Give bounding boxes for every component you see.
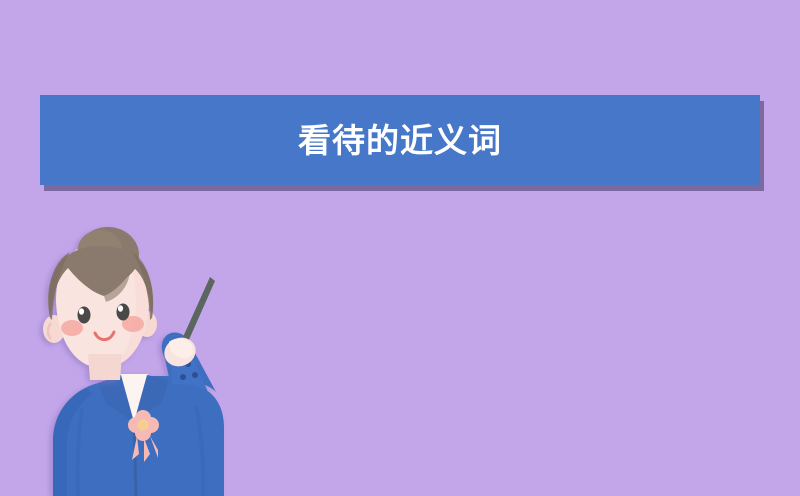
eye-right [117,304,130,321]
eye-left-highlight [79,308,84,314]
eye-right-highlight [118,305,123,311]
slide-canvas: 看待的近义词 [0,0,800,496]
sleeve-button-3 [180,374,186,380]
badge-center [138,420,149,431]
sleeve-button-2 [192,372,198,378]
teacher-illustration-svg [20,222,260,496]
page-title: 看待的近义词 [298,124,502,157]
title-banner: 看待的近义词 [40,95,760,185]
teacher-head [43,227,157,380]
blush-left [61,320,83,336]
teacher-illustration [20,222,260,496]
eye-left [78,307,91,324]
neck [88,354,122,380]
